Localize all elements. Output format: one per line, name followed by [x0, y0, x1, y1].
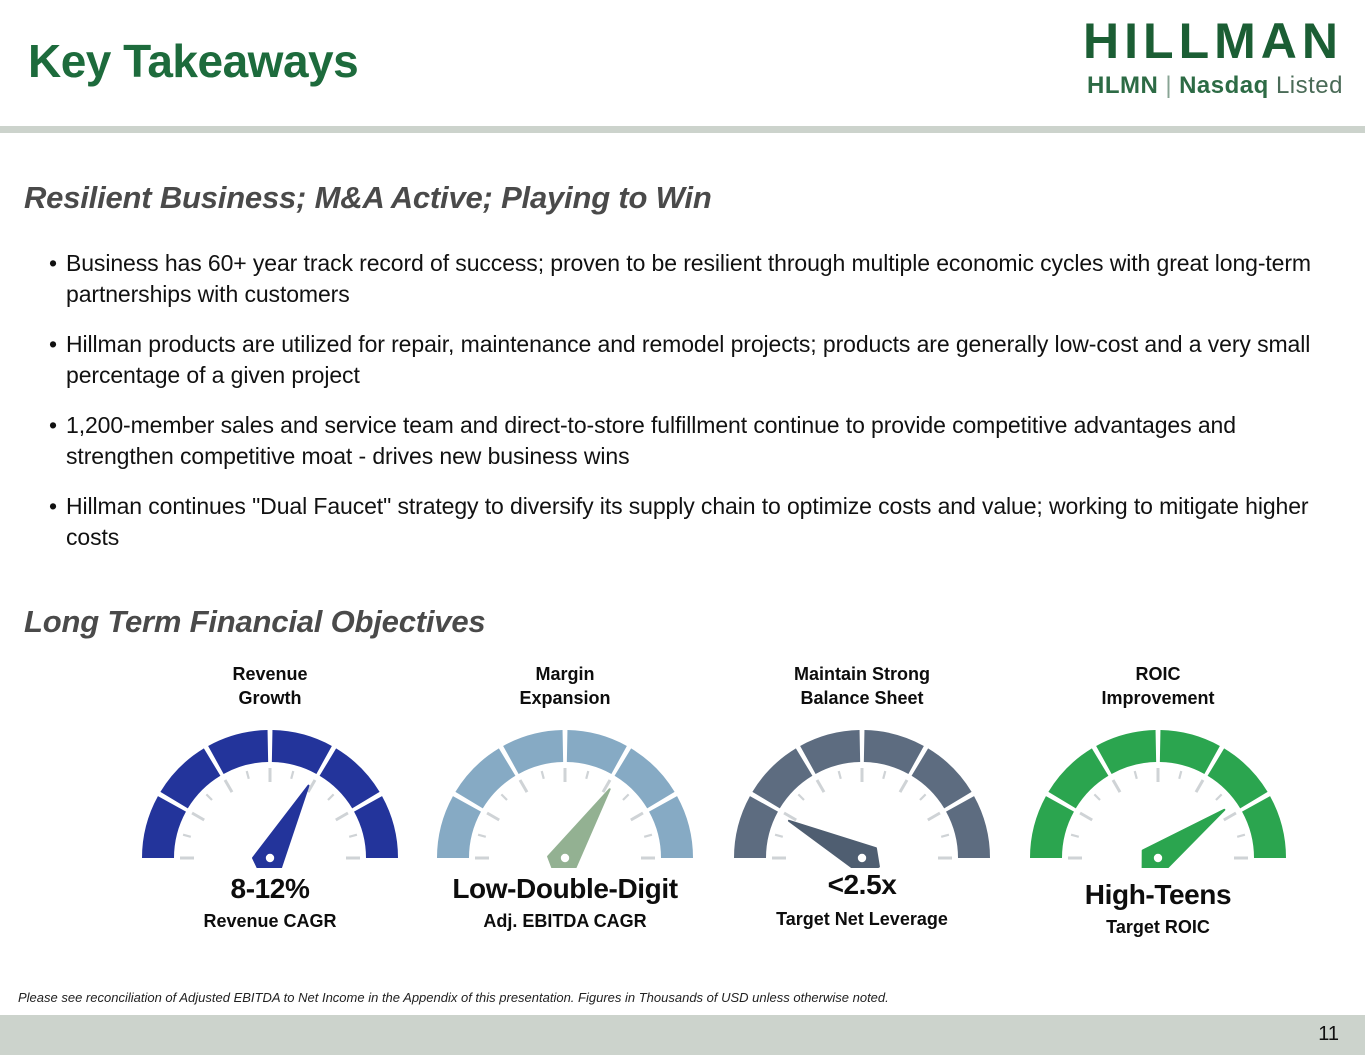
- gauge-caption: Target ROIC: [1008, 917, 1308, 938]
- list-item-text: 1,200-member sales and service team and …: [66, 410, 1325, 472]
- gauge-icon: [120, 718, 420, 873]
- list-item-text: Business has 60+ year track record of su…: [66, 248, 1325, 310]
- hillman-logo: HILLMAN HLMN|Nasdaq Listed: [1083, 16, 1343, 100]
- list-item: • Business has 60+ year track record of …: [40, 248, 1325, 310]
- gauge-card-balance-sheet: Maintain Strong Balance Sheet <2.5x Targ…: [712, 662, 1012, 930]
- gauge-title: ROIC Improvement: [1008, 662, 1308, 710]
- gauge-icon: [1008, 718, 1308, 873]
- gauge-icon: [712, 718, 1012, 873]
- takeaway-bullet-list: • Business has 60+ year track record of …: [40, 248, 1325, 572]
- footer-bar: [0, 1015, 1365, 1055]
- list-item: • Hillman continues "Dual Faucet" strate…: [40, 491, 1325, 553]
- gauge-caption: Target Net Leverage: [712, 909, 1012, 930]
- header-divider: [0, 126, 1365, 133]
- page-title: Key Takeaways: [28, 34, 358, 88]
- section-heading-resilient: Resilient Business; M&A Active; Playing …: [24, 180, 712, 216]
- list-item-text: Hillman products are utilized for repair…: [66, 329, 1325, 391]
- gauge-icon: [415, 718, 715, 873]
- bullet-icon: •: [40, 248, 66, 279]
- section-heading-objectives: Long Term Financial Objectives: [24, 604, 485, 640]
- gauge-title: Maintain Strong Balance Sheet: [712, 662, 1012, 710]
- page-number: 11: [1318, 1023, 1339, 1046]
- gauge-value: 8-12%: [120, 873, 420, 905]
- gauge-value: <2.5x: [712, 869, 1012, 901]
- gauge-title: Margin Expansion: [415, 662, 715, 710]
- gauge-value: Low-Double-Digit: [415, 873, 715, 905]
- logo-ticker: HLMN: [1087, 72, 1158, 99]
- gauge-card-margin-expansion: Margin Expansion Low-Double-Digit Adj. E…: [415, 662, 715, 932]
- bullet-icon: •: [40, 329, 66, 360]
- gauge-caption: Adj. EBITDA CAGR: [415, 911, 715, 932]
- logo-subline: HLMN|Nasdaq Listed: [1083, 72, 1343, 100]
- gauge-card-revenue-growth: Revenue Growth 8-12% Revenue CAGR: [120, 662, 420, 932]
- gauge-title: Revenue Growth: [120, 662, 420, 710]
- slide-key-takeaways: Key Takeaways HILLMAN HLMN|Nasdaq Listed…: [0, 0, 1365, 1055]
- gauge-caption: Revenue CAGR: [120, 911, 420, 932]
- list-item: • Hillman products are utilized for repa…: [40, 329, 1325, 391]
- logo-listed: Listed: [1276, 72, 1343, 99]
- logo-exchange: Nasdaq: [1179, 72, 1269, 99]
- hillman-wordmark: HILLMAN: [1083, 16, 1343, 66]
- footnote-text: Please see reconciliation of Adjusted EB…: [18, 990, 889, 1005]
- list-item-text: Hillman continues "Dual Faucet" strategy…: [66, 491, 1325, 553]
- logo-separator: |: [1165, 72, 1172, 99]
- slide-header: Key Takeaways HILLMAN HLMN|Nasdaq Listed: [0, 0, 1365, 131]
- bullet-icon: •: [40, 491, 66, 522]
- gauge-value: High-Teens: [1008, 879, 1308, 911]
- gauge-card-roic-improvement: ROIC Improvement High-Teens Target ROIC: [1008, 662, 1308, 938]
- financial-objectives-gauges: Revenue Growth 8-12% Revenue CAGR Margin…: [40, 662, 1330, 982]
- bullet-icon: •: [40, 410, 66, 441]
- list-item: • 1,200-member sales and service team an…: [40, 410, 1325, 472]
